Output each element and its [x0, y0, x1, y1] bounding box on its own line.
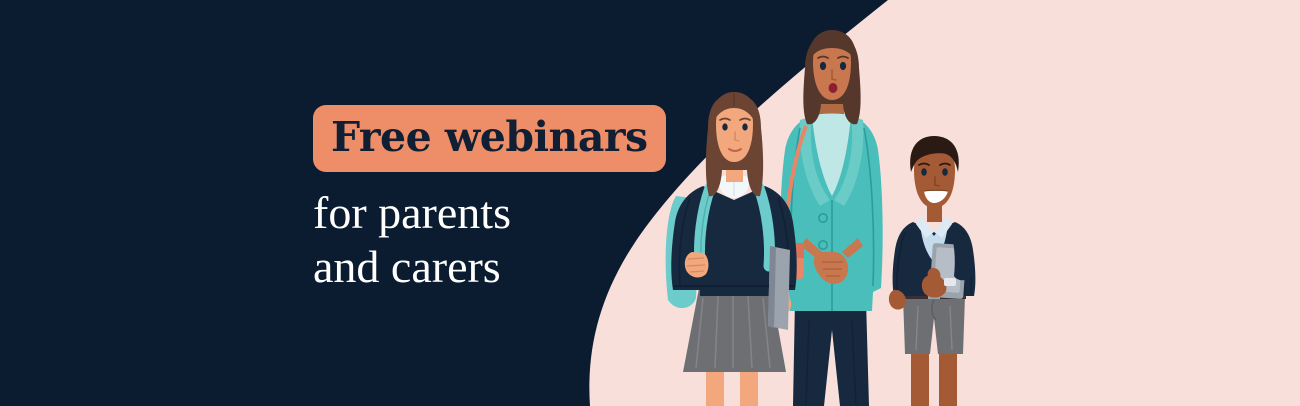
girl-eye-right: [742, 123, 747, 130]
boy-eye-left: [921, 168, 927, 176]
woman-eye-right: [840, 62, 846, 70]
girl-eye-left: [722, 123, 727, 130]
boy-watch: [944, 278, 956, 286]
subline-and-carers: and carers: [313, 240, 713, 294]
woman-eye-left: [820, 62, 826, 70]
boy-shorts: [903, 296, 965, 354]
banner-copy: Free webinars for parents and carers: [313, 105, 713, 294]
woman-mouth: [829, 83, 838, 93]
boy-eye-right: [942, 168, 948, 176]
figure-schoolboy: [889, 136, 976, 406]
woman-trousers: [793, 300, 869, 406]
girl-leg-left: [706, 372, 724, 406]
free-webinars-banner: Free webinars for parents and carers: [0, 0, 1300, 406]
girl-leg-right: [740, 372, 758, 406]
badge-free-webinars: Free webinars: [313, 105, 666, 172]
boy-leg-left: [911, 352, 929, 406]
boy-leg-right: [939, 352, 957, 406]
subline-for-parents: for parents: [313, 186, 713, 240]
